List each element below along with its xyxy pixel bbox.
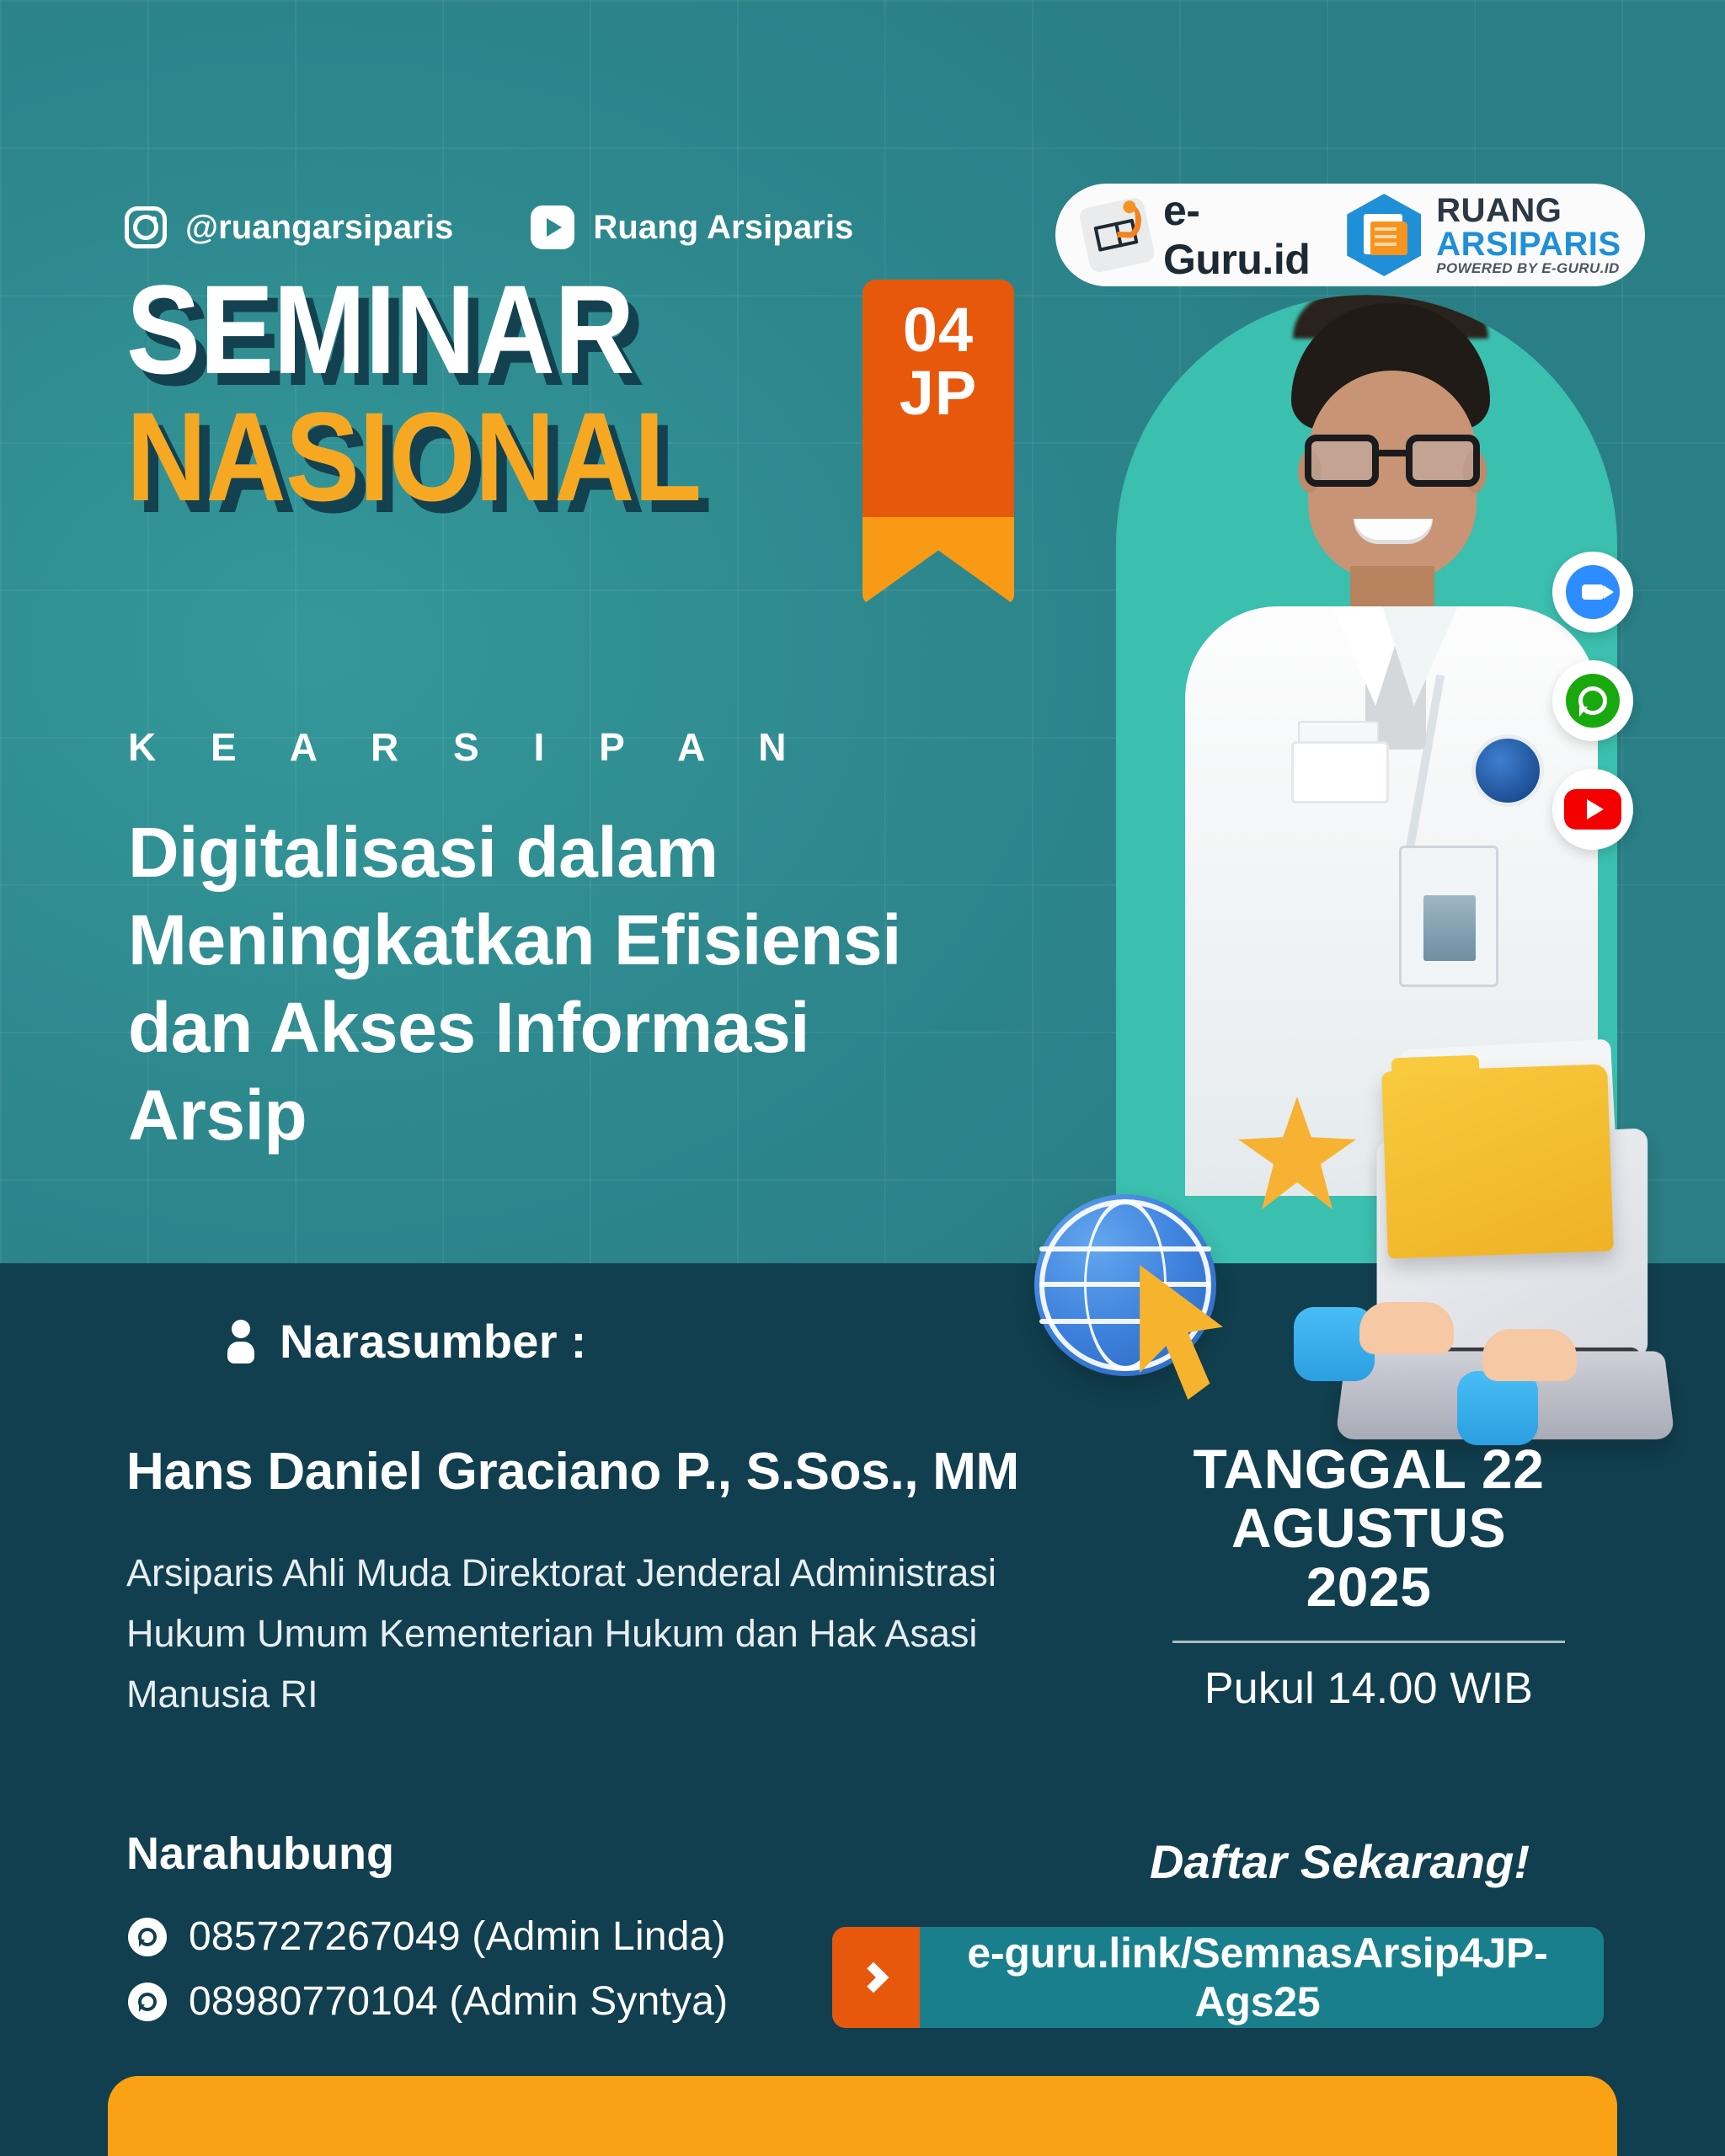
id-card [1399,846,1498,987]
hand-left [1359,1302,1454,1354]
instagram-icon [125,206,167,248]
digital-archive-illustration [1011,1036,1710,1482]
eyeglass-lens-left [1305,435,1379,487]
whatsapp-icon [128,1918,167,1956]
youtube-icon [531,205,574,249]
folder-icon [1381,1064,1614,1258]
organization-emblem [1471,734,1544,807]
title-line-seminar: SEMINAR [126,269,701,390]
instagram-handle[interactable]: @ruangarsiparis [125,206,453,248]
jp-ribbon-badge: 04 JP [862,280,1014,517]
arsiparis-word: ARSIPARIS [1436,226,1621,263]
whatsapp-icon[interactable] [1552,660,1633,741]
speaker-section-header: Narasumber : [226,1314,587,1369]
hand-right [1482,1329,1577,1381]
topic-headline: Digitalisasi dalam Meningkatkan Efisiens… [128,808,987,1160]
registration-link-button[interactable]: e-guru.link/SemnasArsip4JP-Ags25 [832,1927,1604,2028]
speaker-shirt-pocket [1291,741,1389,803]
eguru-book-icon [1078,196,1156,275]
jp-badge-number: 04 [862,280,1014,360]
jp-badge-unit: JP [862,360,1014,423]
ruang-arsiparis-hex-icon [1347,194,1421,276]
list-item[interactable]: 085727267049 (Admin Linda) [128,1913,728,1960]
person-icon [226,1320,256,1364]
contacts-list: 085727267049 (Admin Linda) 08980770104 (… [128,1913,728,2043]
jp-ribbon-tail [862,517,1014,605]
speaker-eyeglasses [1301,435,1483,488]
id-card-photo [1423,895,1476,961]
speaker-nametag [1298,721,1379,743]
event-date-line1: TANGGAL 22 [1162,1440,1575,1499]
speaker-section-label: Narasumber : [280,1314,587,1369]
instagram-handle-label: @ruangarsiparis [185,209,453,247]
ruang-arsiparis-wordmark: RUANG ARSIPARIS POWERED BY E-GURU.ID [1436,194,1621,276]
event-date-block: TANGGAL 22 AGUSTUS 2025 Pukul 14.00 WIB [1162,1440,1575,1714]
logo-pill: e-Guru.id RUANG ARSIPARIS POWERED BY E-G… [1055,184,1645,286]
speaker-affiliation: Arsiparis Ahli Muda Direktorat Jenderal … [126,1543,1019,1725]
powered-by-tagline: POWERED BY E-GURU.ID [1436,260,1619,276]
contacts-title: Narahubung [126,1828,394,1880]
title-line-nasional: NASIONAL [126,397,701,517]
eguru-logo-text: e-Guru.id [1163,186,1310,284]
youtube-handle[interactable]: Ruang Arsiparis [531,205,853,249]
header-bar: @ruangarsiparis Ruang Arsiparis e-Guru.i… [0,101,1725,202]
sleeve-right [1457,1371,1538,1445]
social-handles: @ruangarsiparis Ruang Arsiparis [125,205,853,249]
registration-url: e-guru.link/SemnasArsip4JP-Ags25 [920,1929,1604,2026]
eyeglass-bridge [1379,450,1407,456]
ruang-arsiparis-logo: RUANG ARSIPARIS POWERED BY E-GURU.ID [1347,194,1621,276]
eyeglass-lens-right [1406,435,1480,487]
speaker-name: Hans Daniel Graciano P., S.Sos., MM [126,1442,1019,1502]
event-time: Pukul 14.00 WIB [1162,1663,1575,1714]
date-divider [1172,1641,1565,1643]
platform-icons [1552,552,1633,878]
youtube-icon[interactable] [1552,769,1633,850]
chevron-right-icon [832,1927,920,2028]
main-title: SEMINAR NASIONAL [126,269,779,516]
bottom-accent-strip [108,2076,1617,2156]
contact-phone: 08980770104 (Admin Syntya) [189,1978,728,2025]
contact-phone: 085727267049 (Admin Linda) [189,1913,726,1960]
ruang-word: RUANG [1436,192,1562,229]
eguru-logo: e-Guru.id [1084,186,1310,284]
topic-category: K E A R S I P A N [128,724,809,770]
whatsapp-icon [128,1983,167,2021]
cta-heading: Daftar Sekarang! [1150,1834,1530,1889]
event-date-line2: AGUSTUS 2025 [1162,1499,1575,1617]
list-item[interactable]: 08980770104 (Admin Syntya) [128,1978,728,2025]
poster-canvas: @ruangarsiparis Ruang Arsiparis e-Guru.i… [0,0,1725,2156]
youtube-handle-label: Ruang Arsiparis [593,209,853,247]
zoom-icon[interactable] [1552,552,1633,632]
star-icon [1238,1097,1356,1209]
